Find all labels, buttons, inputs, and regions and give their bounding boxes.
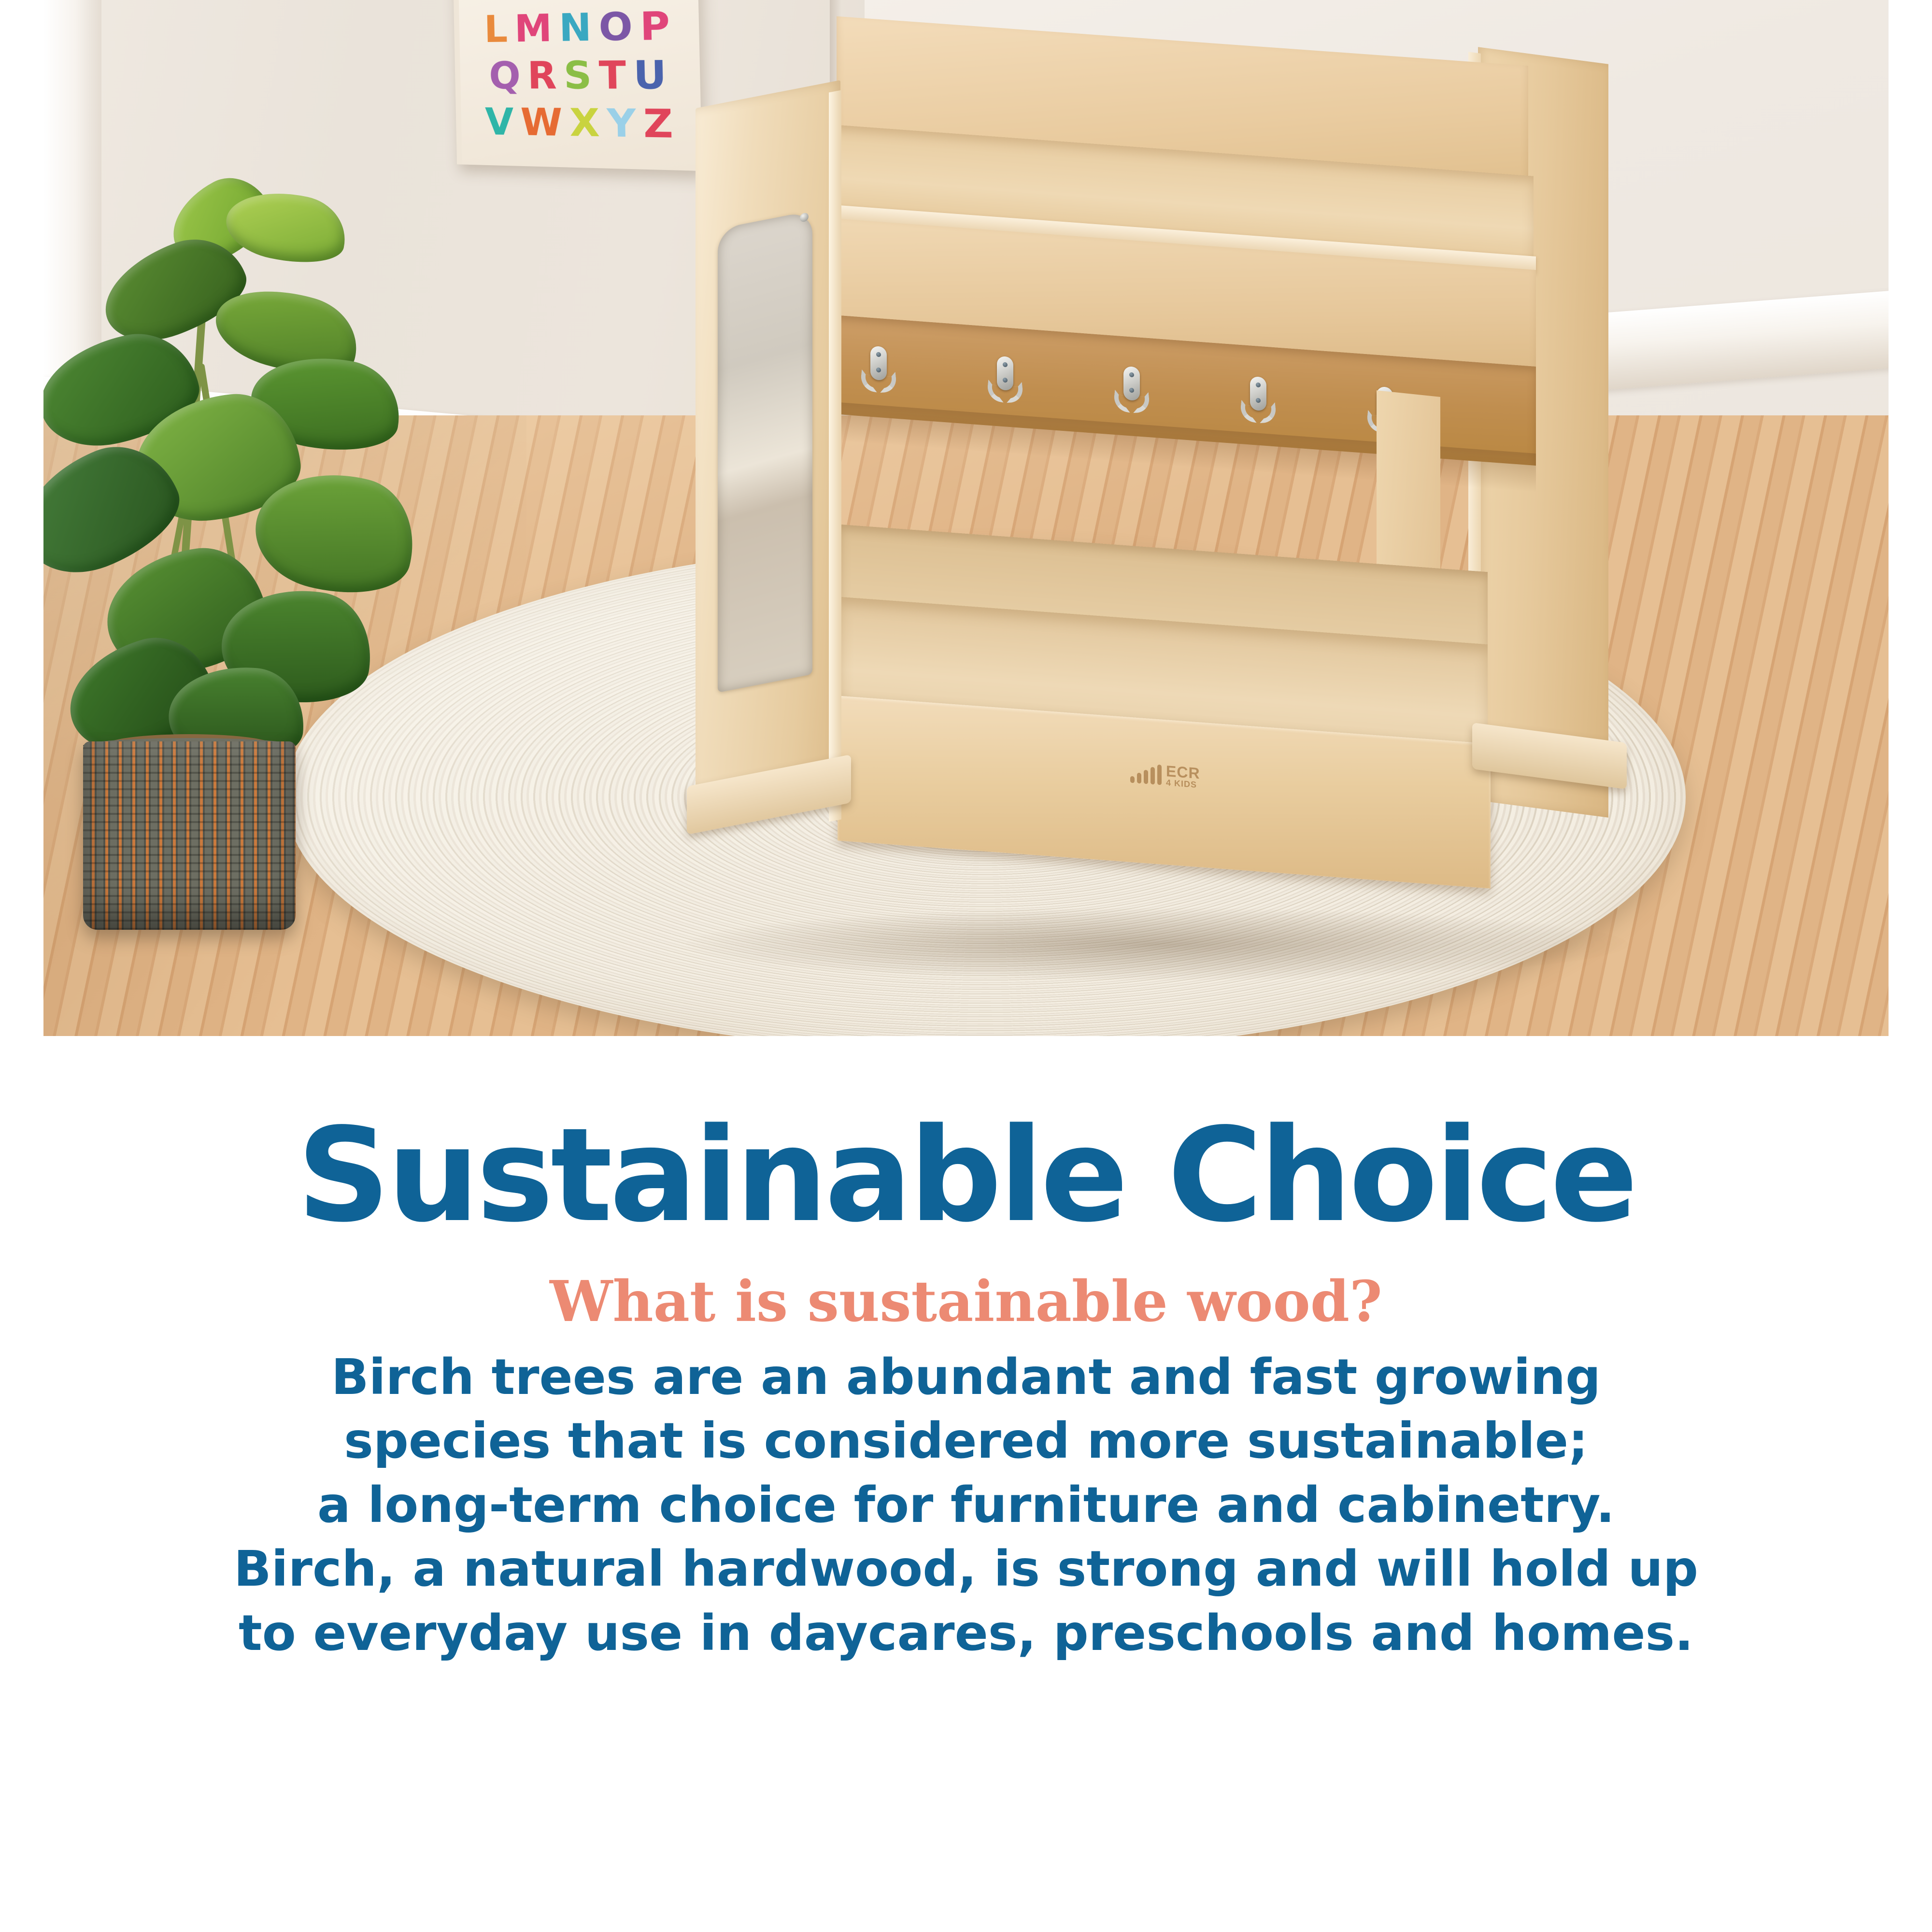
body-copy: Birch trees are an abundant and fast gro… bbox=[0, 1346, 1932, 1666]
left-panel-edge bbox=[829, 90, 841, 822]
furniture-floor-shadow bbox=[686, 908, 1628, 980]
poster-letter: V bbox=[485, 99, 515, 145]
poster-letter: P bbox=[639, 1, 671, 51]
hook-arm-left bbox=[860, 369, 879, 393]
hook-arm-left bbox=[1113, 390, 1132, 413]
poster-letter: Y bbox=[607, 99, 637, 147]
hook-screw-top bbox=[1256, 383, 1261, 388]
hook-arm-left bbox=[1239, 400, 1259, 423]
hook-screw-top bbox=[1129, 372, 1134, 378]
body-line: Birch trees are an abundant and fast gro… bbox=[0, 1346, 1932, 1410]
hook-arm-right bbox=[878, 372, 897, 393]
fiddle-leaf-fig-plant bbox=[48, 155, 464, 797]
birch-coat-rack-unit: ECR 4 KIDS bbox=[657, 123, 1657, 954]
poster-letter: W bbox=[520, 99, 564, 146]
hook-screw-top bbox=[876, 352, 881, 357]
poster-letter-row: QRSTU bbox=[466, 50, 694, 99]
page-title: Sustainable Choice bbox=[0, 1107, 1932, 1244]
body-line: species that is considered more sustaina… bbox=[0, 1409, 1932, 1474]
poster-letter: R bbox=[527, 52, 558, 99]
body-line: to everyday use in daycares, preschools … bbox=[0, 1602, 1932, 1666]
logo-people-bars bbox=[1130, 763, 1162, 785]
section-subtitle: What is sustainable wood? bbox=[0, 1271, 1932, 1333]
product-photo: LMNOPQRSTUVWXYZ bbox=[43, 0, 1889, 1036]
coat-hook bbox=[1113, 365, 1151, 420]
poster-letter: S bbox=[563, 51, 593, 99]
hook-arm-right bbox=[1131, 392, 1151, 413]
hook-screw-top bbox=[1003, 362, 1008, 368]
text-section: Sustainable Choice What is sustainable w… bbox=[0, 1063, 1932, 1666]
coat-hook bbox=[1239, 375, 1277, 430]
body-line: Birch, a natural hardwood, is strong and… bbox=[0, 1537, 1932, 1602]
poster-letter: N bbox=[558, 4, 592, 52]
coat-hook bbox=[986, 355, 1024, 410]
poster-letter: L bbox=[483, 6, 509, 52]
hook-arm-right bbox=[1258, 402, 1277, 423]
poster-letter: U bbox=[633, 51, 668, 99]
poster-letter-row: LMNOP bbox=[465, 1, 693, 53]
product-infographic-page: LMNOPQRSTUVWXYZ bbox=[0, 0, 1932, 1932]
hook-arm-left bbox=[986, 380, 1006, 403]
poster-letter: Q bbox=[489, 52, 522, 99]
hook-arm-right bbox=[1005, 382, 1024, 403]
coat-hook bbox=[860, 345, 897, 400]
poster-letter: O bbox=[598, 3, 634, 52]
acrylic-mirror-panel bbox=[718, 211, 812, 693]
poster-letter: X bbox=[569, 99, 600, 147]
poster-letter: T bbox=[598, 51, 627, 99]
woven-planter-basket bbox=[83, 741, 296, 930]
poster-letter: M bbox=[514, 5, 553, 52]
body-line: a long-term choice for furniture and cab… bbox=[0, 1474, 1932, 1538]
